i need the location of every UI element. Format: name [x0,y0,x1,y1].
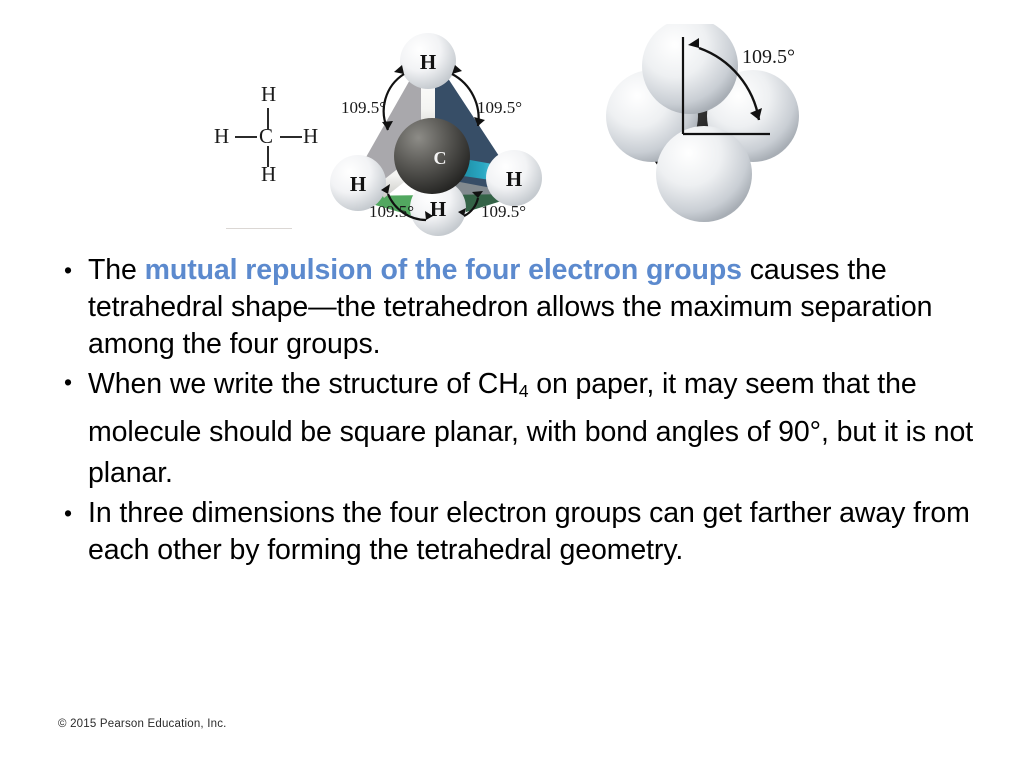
bullet-square-planar: When we write the structure of CH4 on pa… [56,364,1006,494]
slide-body: The mutual repulsion of the four electro… [56,252,1006,570]
lewis-bond-right [280,136,302,138]
methane-lewis-structure: H H C H H [214,84,324,188]
bullet-repulsion-text-0: The [88,254,145,286]
lewis-bond-left [235,136,257,138]
ball-label-h-top: H [420,50,436,74]
bullet-list: The mutual repulsion of the four electro… [56,252,1006,569]
bullet-three-dimensions-text-0: In three dimensions the four electron gr… [88,497,970,566]
lewis-atom-h-bottom: H [261,164,277,185]
lewis-atom-h-left: H [214,126,230,147]
lewis-atom-carbon: C [259,126,274,147]
footer-credit: © 2015 Pearson Education, Inc. [58,718,227,730]
angle-label-space-filling: 109.5° [742,46,795,69]
sf-hydrogen-bottom [656,126,752,222]
bullet-three-dimensions: In three dimensions the four electron gr… [56,495,1006,569]
bullet-repulsion: The mutual repulsion of the four electro… [56,252,1006,363]
angle-label-upper-left: 109.5° [341,98,386,118]
bullet-square-planar-subscript: 4 [519,381,529,401]
methane-ball-and-stick-model: H H H H C [328,26,572,238]
lewis-atom-h-right: H [303,126,319,147]
angle-label-lower-left: 109.5° [369,202,414,222]
angle-label-upper-right: 109.5° [477,98,522,118]
ball-label-h-right: H [506,167,522,191]
bullet-square-planar-text-0: When we write the structure of CH [88,368,519,400]
lewis-atom-h-top: H [261,84,277,105]
figure-artifact-rule [226,228,292,229]
carbon-atom [394,118,470,194]
angle-label-lower-right: 109.5° [481,202,526,222]
methane-space-filling-model [604,24,834,224]
bullet-repulsion-highlight: mutual repulsion of the four electron gr… [145,254,742,286]
figure-area: H H C H H [0,0,1024,248]
ball-label-carbon: C [434,148,447,168]
ball-label-h-front: H [430,197,446,221]
ball-label-h-left: H [350,172,366,196]
